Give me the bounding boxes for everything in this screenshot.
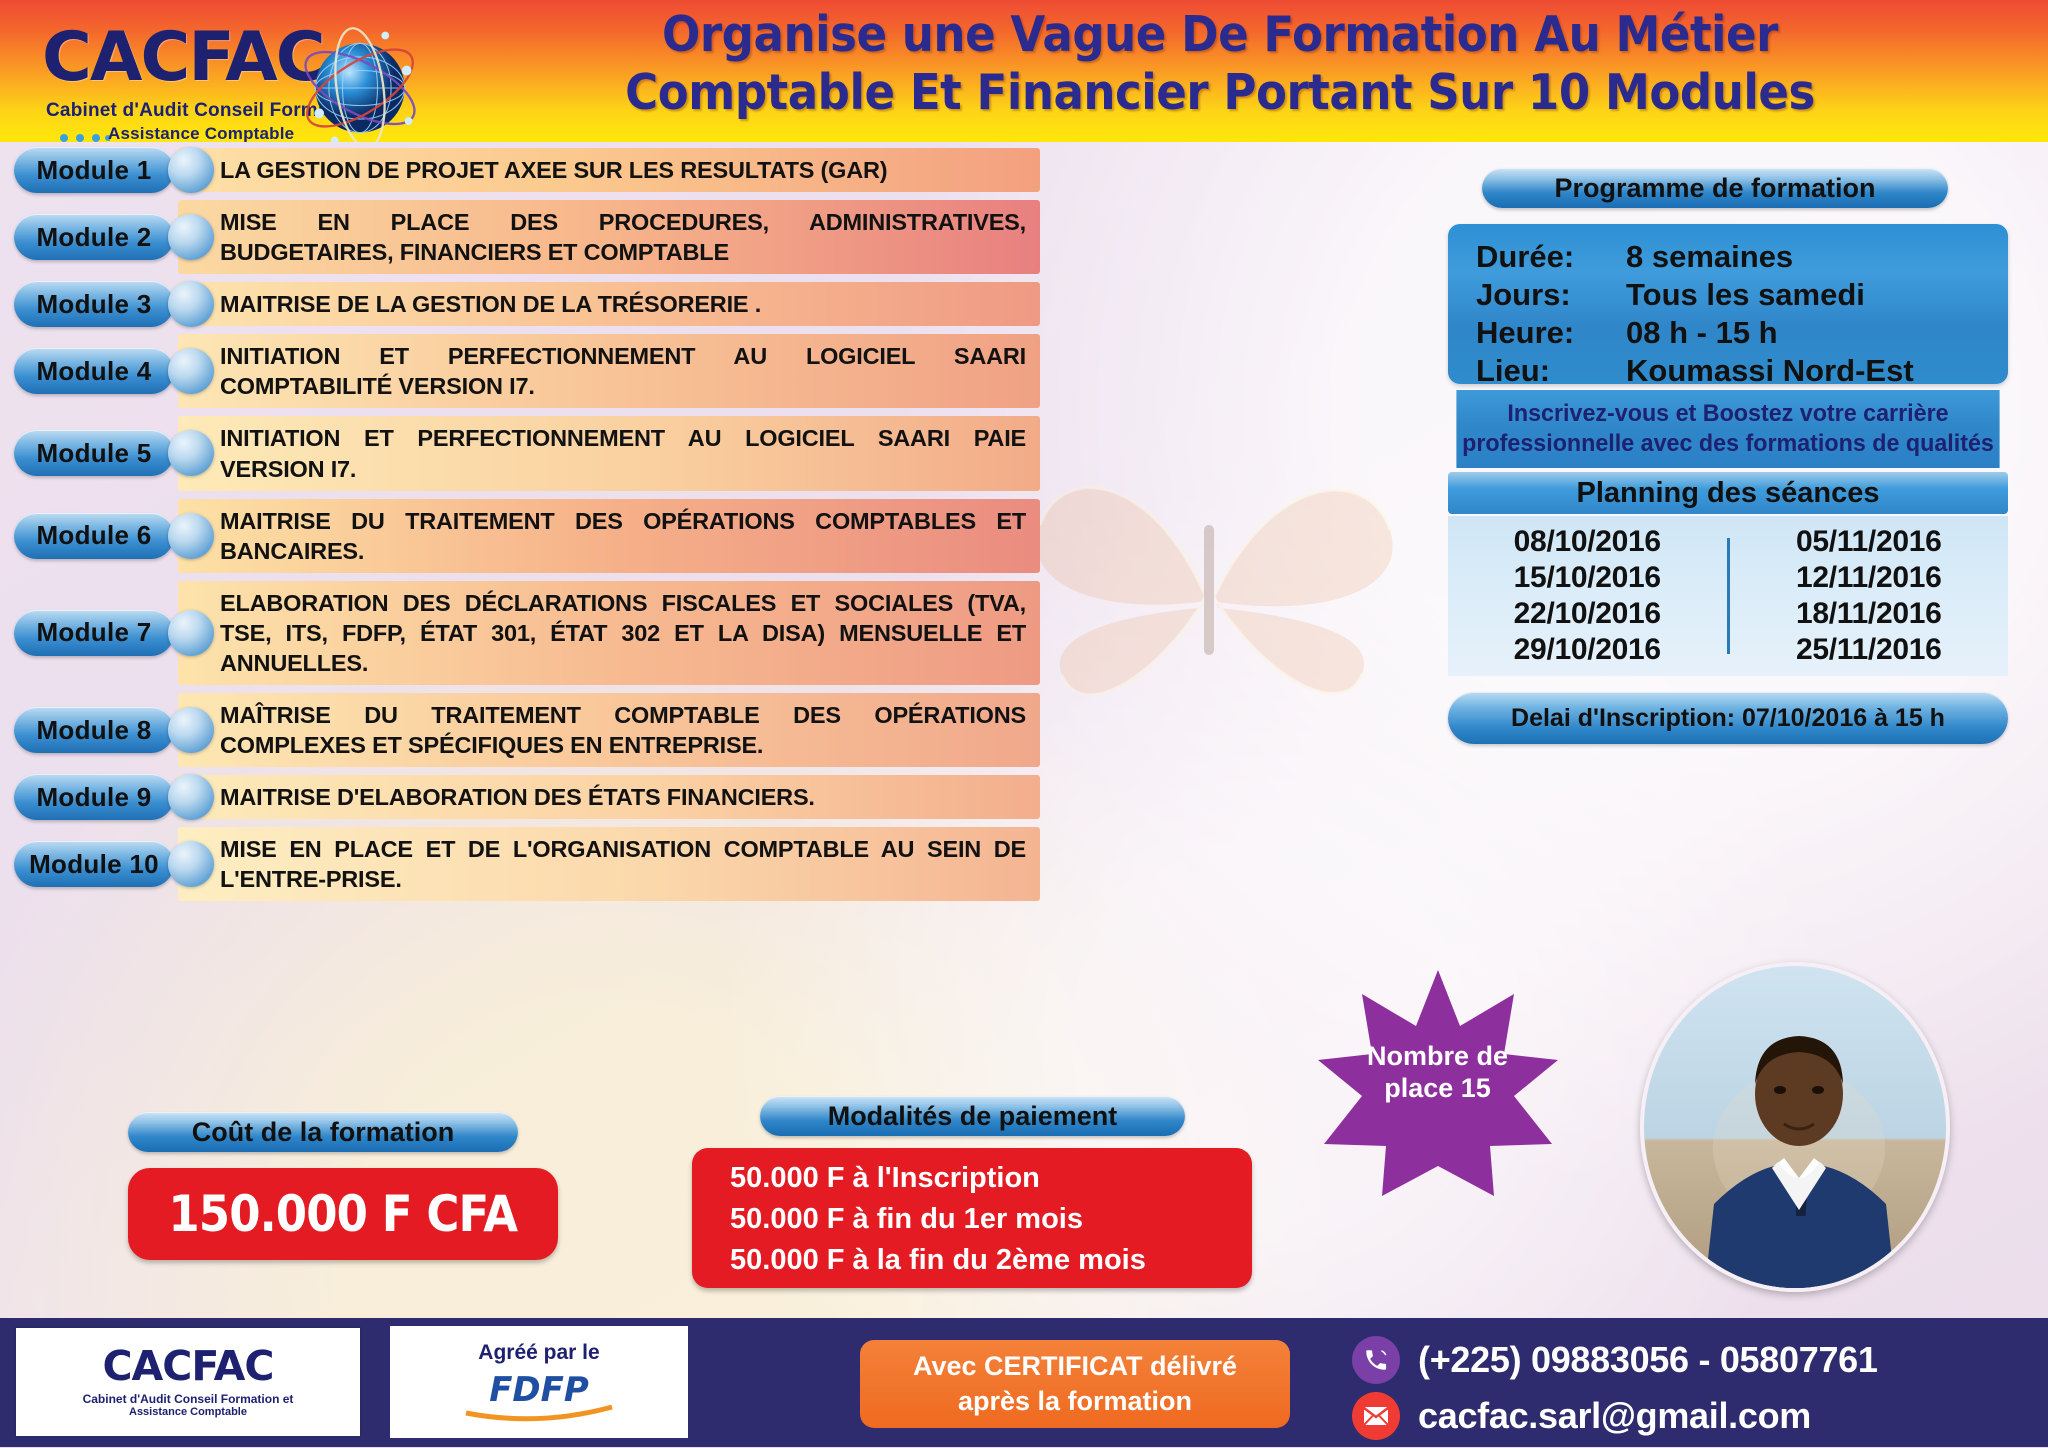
payment-item: 50.000 F à l'Inscription	[730, 1158, 1252, 1199]
phone-row[interactable]: (+225) 09883056 - 05807761	[1352, 1336, 2042, 1384]
modules-list: LA GESTION DE PROJET AXEE SUR LES RESULT…	[0, 148, 1040, 909]
module-badge[interactable]: Module 2	[14, 214, 174, 260]
logo-tagline-line2: Assistance Comptable	[108, 124, 294, 142]
globe-atom-icon	[292, 20, 428, 142]
programme-key: Jours:	[1476, 277, 1626, 313]
module-description-band: LA GESTION DE PROJET AXEE SUR LES RESULT…	[178, 148, 1040, 192]
module-row: MAITRISE D'ELABORATION DES ÉTATS FINANCI…	[0, 775, 1040, 819]
module-row: MISE EN PLACE ET DE L'ORGANISATION COMPT…	[0, 827, 1040, 901]
module-description-band: INITIATION ET PERFECTIONNEMENT AU LOGICI…	[178, 416, 1040, 490]
module-description: MAITRISE D'ELABORATION DES ÉTATS FINANCI…	[220, 782, 1026, 812]
module-description: INITIATION ET PERFECTIONNEMENT AU LOGICI…	[220, 341, 1026, 401]
module-badge[interactable]: Module 5	[14, 430, 174, 476]
planning-column-1: 08/10/201615/10/201622/10/201629/10/2016	[1448, 525, 1727, 667]
programme-row: Lieu:Koumassi Nord-Est	[1448, 352, 2008, 390]
module-row: LA GESTION DE PROJET AXEE SUR LES RESULT…	[0, 148, 1040, 192]
module-knob-icon	[168, 281, 214, 327]
fdfp-agree-label: Agréé par le	[478, 1341, 599, 1365]
footer-brand-logo: CACFAC Cabinet d'Audit Conseil Formation…	[14, 1326, 362, 1438]
programme-value: Tous les samedi	[1626, 277, 1865, 313]
module-knob-icon	[168, 147, 214, 193]
module-description-band: MISE EN PLACE DES PROCEDURES, ADMINISTRA…	[178, 200, 1040, 274]
certificate-line2: après la formation	[958, 1384, 1192, 1419]
programme-value: Koumassi Nord-Est	[1626, 353, 1914, 389]
module-row: INITIATION ET PERFECTIONNEMENT AU LOGICI…	[0, 416, 1040, 490]
contact-block: (+225) 09883056 - 05807761 cacfac.sarl@g…	[1352, 1336, 2042, 1448]
logo-dots-icon	[58, 130, 110, 142]
module-row: MAITRISE DU TRAITEMENT DES OPÉRATIONS CO…	[0, 499, 1040, 573]
cost-title: Coût de la formation	[128, 1112, 518, 1152]
planning-date: 15/10/2016	[1514, 561, 1661, 595]
email-address: cacfac.sarl@gmail.com	[1418, 1395, 1811, 1437]
module-row: MAÎTRISE DU TRAITEMENT COMPTABLE DES OPÉ…	[0, 693, 1040, 767]
module-knob-icon	[168, 513, 214, 559]
trainer-photo	[1640, 962, 1950, 1292]
payment-title: Modalités de paiement	[760, 1096, 1185, 1136]
module-knob-icon	[168, 774, 214, 820]
planning-date: 25/11/2016	[1796, 633, 1942, 667]
seats-line1: Nombre de	[1340, 1040, 1535, 1072]
registration-deadline: Delai d'Inscription: 07/10/2016 à 15 h	[1448, 692, 2008, 744]
mail-icon	[1352, 1392, 1400, 1440]
planning-date: 05/11/2016	[1796, 525, 1942, 559]
phone-icon	[1352, 1336, 1400, 1384]
slogan-banner: Inscrivez-vous et Boostez votre carrière…	[1456, 390, 1999, 468]
logo-wordmark: CACFAC	[42, 24, 324, 92]
planning-date: 08/10/2016	[1514, 525, 1661, 559]
planning-column-2: 05/11/201612/11/201618/11/201625/11/2016	[1730, 525, 2009, 667]
planning-date: 18/11/2016	[1796, 597, 1942, 631]
programme-title: Programme de formation	[1482, 168, 1948, 208]
fdfp-logo-icon: FDFP	[444, 1367, 634, 1423]
phone-number: (+225) 09883056 - 05807761	[1418, 1339, 1878, 1381]
programme-key: Durée:	[1476, 239, 1626, 275]
page-title-line2: Comptable Et Financier Portant Sur 10 Mo…	[484, 64, 1956, 122]
module-description-band: MAÎTRISE DU TRAITEMENT COMPTABLE DES OPÉ…	[178, 693, 1040, 767]
seats-label: Nombre de place 15	[1340, 1040, 1535, 1105]
certificate-badge: Avec CERTIFICAT délivré après la formati…	[860, 1340, 1290, 1428]
module-description: ELABORATION DES DÉCLARATIONS FISCALES ET…	[220, 588, 1026, 678]
cost-amount-box: 150.000 F CFA	[128, 1168, 558, 1260]
programme-value: 08 h - 15 h	[1626, 315, 1778, 351]
seats-line2: place 15	[1340, 1072, 1535, 1104]
email-row[interactable]: cacfac.sarl@gmail.com	[1352, 1392, 2042, 1440]
brand-logo: CACFAC Cabinet d'Audit Conseil Formation…	[30, 18, 420, 138]
programme-row: Jours:Tous les samedi	[1448, 276, 2008, 314]
module-row: ELABORATION DES DÉCLARATIONS FISCALES ET…	[0, 581, 1040, 685]
module-description: INITIATION ET PERFECTIONNEMENT AU LOGICI…	[220, 423, 1026, 483]
module-row: MISE EN PLACE DES PROCEDURES, ADMINISTRA…	[0, 200, 1040, 274]
payment-item: 50.000 F à la fin du 2ème mois	[730, 1240, 1252, 1281]
planning-dates: 08/10/201615/10/201622/10/201629/10/2016…	[1448, 516, 2008, 676]
module-knob-icon	[168, 348, 214, 394]
planning-date: 12/11/2016	[1796, 561, 1942, 595]
module-description-band: MAITRISE DU TRAITEMENT DES OPÉRATIONS CO…	[178, 499, 1040, 573]
programme-details: Durée:8 semainesJours:Tous les samediHeu…	[1448, 224, 2008, 384]
module-knob-icon	[168, 214, 214, 260]
programme-value: 8 semaines	[1626, 239, 1793, 275]
planning-title: Planning des séances	[1448, 472, 2008, 514]
module-description: MISE EN PLACE DES PROCEDURES, ADMINISTRA…	[220, 207, 1026, 267]
slogan-line1: Inscrivez-vous et Boostez votre carrière	[1507, 399, 1948, 429]
module-badge[interactable]: Module 9	[14, 774, 174, 820]
page-title-line1: Organise une Vague De Formation Au Métie…	[484, 6, 1956, 64]
module-description-band: MISE EN PLACE ET DE L'ORGANISATION COMPT…	[178, 827, 1040, 901]
module-knob-icon	[168, 841, 214, 887]
footer-logo-tagline1: Cabinet d'Audit Conseil Formation et	[83, 1392, 294, 1406]
module-badge[interactable]: Module 1	[14, 147, 174, 193]
fdfp-accreditation: Agréé par le FDFP	[390, 1326, 688, 1438]
module-description-band: INITIATION ET PERFECTIONNEMENT AU LOGICI…	[178, 334, 1040, 408]
module-badge[interactable]: Module 3	[14, 281, 174, 327]
module-description: MISE EN PLACE ET DE L'ORGANISATION COMPT…	[220, 834, 1026, 894]
module-badge[interactable]: Module 8	[14, 707, 174, 753]
module-row: MAITRISE DE LA GESTION DE LA TRÉSORERIE …	[0, 282, 1040, 326]
planning-date: 29/10/2016	[1514, 633, 1661, 667]
module-knob-icon	[168, 610, 214, 656]
module-description: MAITRISE DU TRAITEMENT DES OPÉRATIONS CO…	[220, 506, 1026, 566]
programme-key: Heure:	[1476, 315, 1626, 351]
module-description: LA GESTION DE PROJET AXEE SUR LES RESULT…	[220, 155, 1026, 185]
module-badge[interactable]: Module 7	[14, 610, 174, 656]
cost-amount: 150.000 F CFA	[169, 1185, 518, 1243]
module-knob-icon	[168, 707, 214, 753]
module-description: MAÎTRISE DU TRAITEMENT COMPTABLE DES OPÉ…	[220, 700, 1026, 760]
module-badge[interactable]: Module 4	[14, 348, 174, 394]
module-row: INITIATION ET PERFECTIONNEMENT AU LOGICI…	[0, 334, 1040, 408]
slogan-line2: professionnelle avec des formations de q…	[1462, 429, 1994, 459]
programme-row: Heure:08 h - 15 h	[1448, 314, 2008, 352]
planning-date: 22/10/2016	[1514, 597, 1661, 631]
module-description-band: ELABORATION DES DÉCLARATIONS FISCALES ET…	[178, 581, 1040, 685]
footer-logo-tagline2: Assistance Comptable	[129, 1406, 247, 1418]
footer-logo-wordmark: CACFAC	[102, 1346, 273, 1387]
payment-items: 50.000 F à l'Inscription50.000 F à fin d…	[692, 1148, 1252, 1288]
module-description: MAITRISE DE LA GESTION DE LA TRÉSORERIE …	[220, 289, 1026, 319]
payment-item: 50.000 F à fin du 1er mois	[730, 1199, 1252, 1240]
module-description-band: MAITRISE D'ELABORATION DES ÉTATS FINANCI…	[178, 775, 1040, 819]
page-header: CACFAC Cabinet d'Audit Conseil Formation…	[0, 0, 2048, 142]
certificate-line1: Avec CERTIFICAT délivré	[913, 1349, 1237, 1384]
svg-text:FDFP: FDFP	[489, 1370, 589, 1410]
module-badge[interactable]: Module 10	[14, 841, 174, 887]
module-badge[interactable]: Module 6	[14, 513, 174, 559]
page-title: Organise une Vague De Formation Au Métie…	[484, 6, 1956, 122]
programme-key: Lieu:	[1476, 353, 1626, 389]
programme-row: Durée:8 semaines	[1448, 238, 2008, 276]
module-description-band: MAITRISE DE LA GESTION DE LA TRÉSORERIE …	[178, 282, 1040, 326]
